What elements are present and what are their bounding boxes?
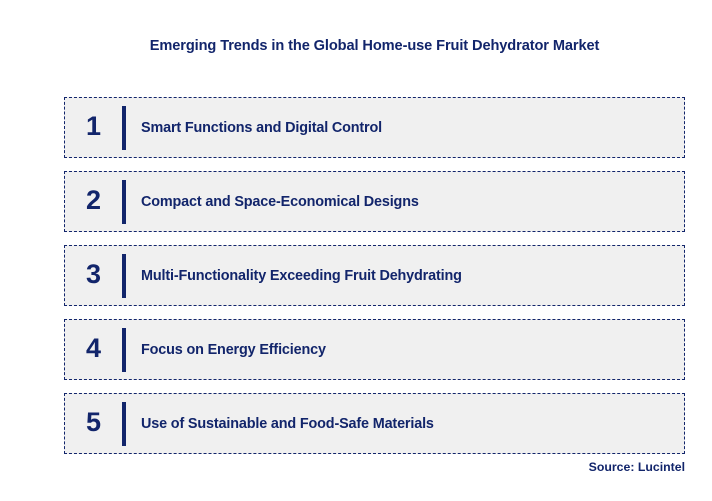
trend-label: Use of Sustainable and Food-Safe Materia…: [126, 416, 684, 432]
trend-number: 3: [65, 261, 122, 290]
infographic-canvas: Emerging Trends in the Global Home-use F…: [0, 0, 712, 501]
trend-label: Focus on Energy Efficiency: [126, 342, 684, 358]
trend-label: Multi-Functionality Exceeding Fruit Dehy…: [126, 268, 684, 284]
source-note: Source: Lucintel: [64, 460, 685, 474]
trend-number: 2: [65, 187, 122, 216]
page-title: Emerging Trends in the Global Home-use F…: [64, 38, 685, 54]
list-item[interactable]: 2 Compact and Space-Economical Designs: [64, 171, 685, 232]
list-item[interactable]: 1 Smart Functions and Digital Control: [64, 97, 685, 158]
list-item[interactable]: 4 Focus on Energy Efficiency: [64, 319, 685, 380]
trend-number: 4: [65, 335, 122, 364]
trend-label: Compact and Space-Economical Designs: [126, 194, 684, 210]
trend-label: Smart Functions and Digital Control: [126, 120, 684, 136]
trend-number: 1: [65, 113, 122, 142]
trend-list: 1 Smart Functions and Digital Control 2 …: [64, 97, 685, 454]
list-item[interactable]: 3 Multi-Functionality Exceeding Fruit De…: [64, 245, 685, 306]
list-item[interactable]: 5 Use of Sustainable and Food-Safe Mater…: [64, 393, 685, 454]
trend-number: 5: [65, 409, 122, 438]
